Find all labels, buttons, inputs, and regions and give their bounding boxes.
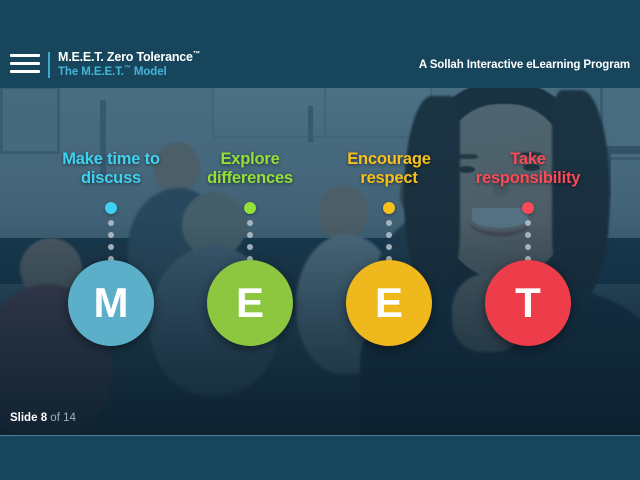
column-label: Take responsibility: [448, 150, 608, 188]
column-label-line2: discuss: [81, 169, 141, 187]
hamburger-bar: [10, 62, 40, 65]
slide-counter-total: 14: [63, 412, 76, 424]
column-label-line1: Explore: [220, 150, 279, 168]
trademark-symbol: ™: [193, 49, 200, 58]
hamburger-bar: [10, 70, 40, 73]
meet-model-columns: Make time to discuss M Explore differenc…: [0, 88, 640, 435]
course-title: M.E.E.T. Zero Tolerance™: [58, 50, 200, 65]
connector-dots: [31, 202, 191, 262]
slide-viewer: Make time to discuss M Explore differenc…: [0, 0, 640, 480]
program-tagline: A Sollah Interactive eLearning Program: [419, 59, 630, 71]
connector-dot: [108, 244, 114, 250]
connector-dot: [525, 232, 531, 238]
connector-dot-large: [383, 202, 395, 214]
hamburger-bar: [10, 54, 40, 57]
column-label-line2: responsibility: [476, 169, 580, 187]
connector-dot: [247, 232, 253, 238]
connector-dot: [108, 220, 114, 226]
connector-dot: [108, 232, 114, 238]
meet-letter-circle-e2[interactable]: E: [346, 260, 432, 346]
hamburger-menu-icon[interactable]: [10, 52, 40, 76]
connector-dot: [247, 220, 253, 226]
course-subtitle-post: Model: [131, 66, 167, 78]
slide-counter-of: of: [50, 412, 60, 424]
meet-letter-circle-t[interactable]: T: [485, 260, 571, 346]
connector-dot: [525, 220, 531, 226]
course-subtitle-pre: The M.E.E.T.: [58, 66, 124, 78]
connector-dots: [170, 202, 330, 262]
connector-dot: [386, 220, 392, 226]
slide-counter-number: 8: [41, 412, 47, 424]
course-subtitle: The M.E.E.T.™ Model: [58, 65, 200, 79]
connector-dot-large: [105, 202, 117, 214]
connector-dot: [525, 244, 531, 250]
connector-dot: [386, 232, 392, 238]
column-label-line1: Take: [510, 150, 546, 168]
column-label: Make time to discuss: [31, 150, 191, 188]
column-label-line2: differences: [207, 169, 293, 187]
connector-dots: [448, 202, 608, 262]
slide-counter-label: Slide: [10, 412, 37, 424]
connector-dot: [386, 244, 392, 250]
course-title-text: M.E.E.T. Zero Tolerance: [58, 50, 193, 64]
column-label: Encourage respect: [309, 150, 469, 188]
column-label-line1: Encourage: [347, 150, 430, 168]
connector-dots: [309, 202, 469, 262]
slide-counter: Slide 8 of 14: [10, 412, 76, 424]
column-label-line2: respect: [360, 169, 417, 187]
connector-dot-large: [522, 202, 534, 214]
title-block: M.E.E.T. Zero Tolerance™ The M.E.E.T.™ M…: [58, 50, 200, 79]
trademark-symbol: ™: [124, 65, 131, 72]
app-header: M.E.E.T. Zero Tolerance™ The M.E.E.T.™ M…: [0, 0, 640, 88]
connector-dot-large: [244, 202, 256, 214]
meet-letter-circle-m[interactable]: M: [68, 260, 154, 346]
column-label-line1: Make time to: [62, 150, 160, 168]
column-label: Explore differences: [170, 150, 330, 188]
connector-dot: [247, 244, 253, 250]
footer-bar: [0, 436, 640, 480]
header-divider: [48, 52, 50, 78]
meet-letter-circle-e1[interactable]: E: [207, 260, 293, 346]
